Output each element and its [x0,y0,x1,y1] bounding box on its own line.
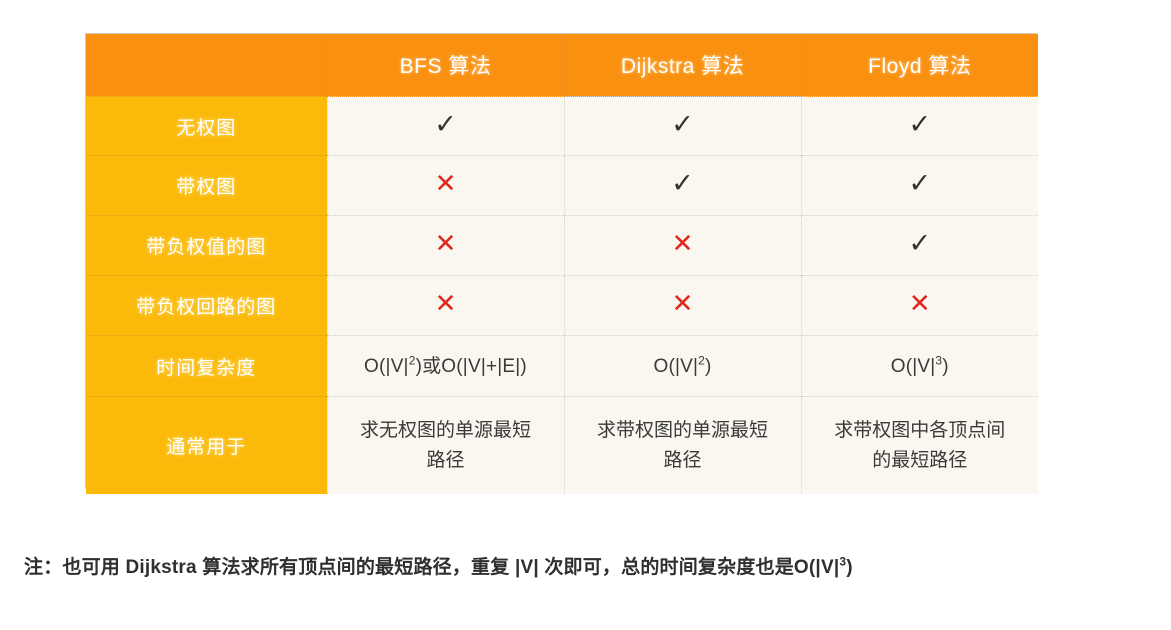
column-header-bfs: BFS 算法 [327,34,564,97]
check-icon: ✓ [908,170,931,197]
usage-text-floyd: 求带权图中各顶点间的最短路径 [812,416,1029,475]
table-body: 无权图 ✓ ✓ ✓ 带权图 ✕ ✓ [86,97,1038,495]
cell-usage-dijkstra: 求带权图的单源最短路径 [564,397,801,495]
complexity-formula-bfs: O(|V|2)或O(|V|+|E|) [364,356,527,377]
table-header: BFS 算法 Dijkstra 算法 Floyd 算法 [86,34,1038,97]
table-row: 通常用于 求无权图的单源最短路径 求带权图的单源最短路径 求带权图中各顶点间的最… [86,397,1038,495]
table-row: 带权图 ✕ ✓ ✓ [86,156,1038,216]
cell-weighted-bfs: ✕ [327,156,564,216]
cell-negative-cycle-dijkstra: ✕ [564,276,801,336]
formula-exponent: 2 [698,353,705,367]
algorithm-comparison-table: BFS 算法 Dijkstra 算法 Floyd 算法 无权图 ✓ ✓ ✓ 带权… [85,33,1037,488]
cell-complexity-floyd: O(|V|3) [801,336,1038,397]
complexity-formula-dijkstra: O(|V|2) [653,356,711,377]
cross-icon: ✕ [909,291,931,317]
comparison-table: BFS 算法 Dijkstra 算法 Floyd 算法 无权图 ✓ ✓ ✓ 带权… [86,34,1038,494]
check-icon: ✓ [908,111,931,138]
formula-base: O(|V| [891,356,936,377]
row-label-weighted-graph: 带权图 [86,156,327,216]
usage-text-bfs: 求无权图的单源最短路径 [338,416,554,475]
cell-complexity-dijkstra: O(|V|2) [564,336,801,397]
cross-icon: ✕ [435,291,457,317]
cross-icon: ✕ [672,291,694,317]
column-header-floyd: Floyd 算法 [801,34,1038,97]
row-label-time-complexity: 时间复杂度 [86,336,327,397]
row-label-negative-cycle-graph: 带负权回路的图 [86,276,327,336]
header-row: BFS 算法 Dijkstra 算法 Floyd 算法 [86,34,1038,97]
cross-icon: ✕ [435,231,457,257]
cell-unweighted-bfs: ✓ [327,97,564,156]
check-icon: ✓ [671,111,694,138]
complexity-formula-floyd: O(|V|3) [891,356,949,377]
table-row: 带负权回路的图 ✕ ✕ ✕ [86,276,1038,336]
cross-icon: ✕ [435,171,457,197]
row-label-unweighted-graph: 无权图 [86,97,327,156]
cell-unweighted-floyd: ✓ [801,97,1038,156]
table-row: 时间复杂度 O(|V|2)或O(|V|+|E|) O(|V|2) O(|V|3) [86,336,1038,397]
cell-negative-cycle-bfs: ✕ [327,276,564,336]
check-icon: ✓ [671,170,694,197]
table-corner-cell [86,34,327,97]
formula-tail: ) [705,356,712,377]
footnote: 注：也可用 Dijkstra 算法求所有顶点间的最短路径，重复 |V| 次即可，… [24,552,1144,579]
usage-text-dijkstra: 求带权图的单源最短路径 [575,416,791,475]
cell-weighted-dijkstra: ✓ [564,156,801,216]
formula-tail: )或O(|V|+|E|) [416,356,527,377]
cell-negative-weight-dijkstra: ✕ [564,216,801,276]
formula-tail: ) [942,356,949,377]
footnote-prefix: 注：也可用 Dijkstra 算法求所有顶点间的最短路径，重复 |V| 次即可，… [24,557,839,578]
cross-icon: ✕ [672,231,694,257]
row-label-negative-weight-graph: 带负权值的图 [86,216,327,276]
formula-exponent: 2 [409,353,416,367]
cell-weighted-floyd: ✓ [801,156,1038,216]
row-label-typical-usage: 通常用于 [86,397,327,495]
cell-usage-bfs: 求无权图的单源最短路径 [327,397,564,495]
cell-negative-weight-bfs: ✕ [327,216,564,276]
cell-complexity-bfs: O(|V|2)或O(|V|+|E|) [327,336,564,397]
cell-negative-cycle-floyd: ✕ [801,276,1038,336]
cell-usage-floyd: 求带权图中各顶点间的最短路径 [801,397,1038,495]
table-row: 无权图 ✓ ✓ ✓ [86,97,1038,156]
cell-unweighted-dijkstra: ✓ [564,97,801,156]
column-header-dijkstra: Dijkstra 算法 [564,34,801,97]
table-row: 带负权值的图 ✕ ✕ ✓ [86,216,1038,276]
formula-base: O(|V| [653,356,698,377]
check-icon: ✓ [908,230,931,257]
check-icon: ✓ [434,111,457,138]
footnote-suffix: ) [846,557,853,578]
cell-negative-weight-floyd: ✓ [801,216,1038,276]
formula-base: O(|V| [364,356,409,377]
